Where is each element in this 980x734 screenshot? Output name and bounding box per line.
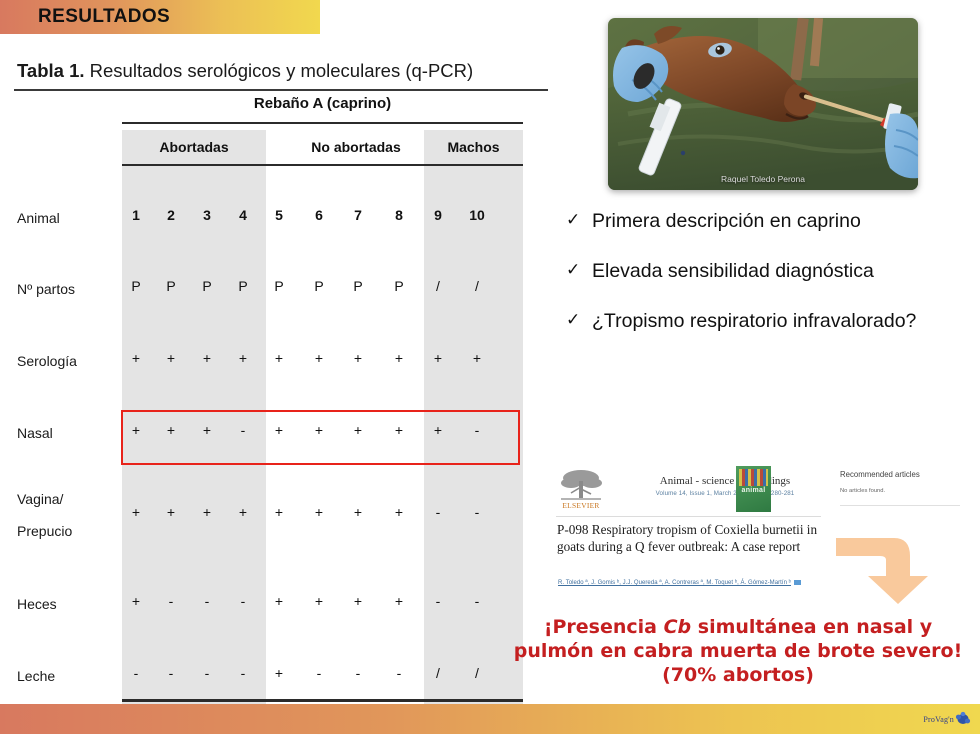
table-cell: +	[230, 350, 256, 366]
svg-text:ELSEVIER: ELSEVIER	[562, 501, 599, 510]
table-cell: +	[345, 593, 371, 609]
recommended-divider	[840, 505, 960, 506]
footer-bar: ProVag'n	[0, 704, 980, 734]
table-cell: /	[425, 278, 451, 294]
table-cell: +	[194, 350, 220, 366]
results-banner: RESULTADOS	[0, 0, 320, 34]
row-label-vagina: Vagina/	[17, 488, 63, 511]
conclusion-line-2: pulmón en cabra muerta de brote severo!	[498, 640, 978, 664]
conclusion-caption: ¡Presencia Cb simultánea en nasal y pulm…	[498, 616, 978, 688]
animal-header-cell: 9	[425, 207, 451, 223]
group-header-machos: Machos	[424, 139, 523, 155]
table-cell: P	[266, 278, 292, 294]
caption-part-a: ¡Presencia	[544, 616, 664, 638]
table-cell: -	[194, 593, 220, 609]
row-label-prepucio: Prepucio	[17, 520, 72, 543]
table-cell: -	[158, 665, 184, 681]
check-icon: ✓	[566, 209, 592, 231]
table-cell: -	[194, 665, 220, 681]
row-label-heces: Heces	[17, 593, 57, 616]
cover-title: animal	[736, 487, 771, 494]
table-cell: /	[464, 665, 490, 681]
table-cell: /	[464, 278, 490, 294]
herd-title: Rebaño A (caprino)	[122, 95, 523, 112]
table-cell: P	[123, 278, 149, 294]
animal-header-cell: 2	[158, 207, 184, 223]
table-rule-bottom	[122, 699, 523, 702]
animal-header-cell: 10	[464, 207, 490, 223]
row-label-nasal: Nasal	[17, 422, 53, 445]
envelope-icon[interactable]	[794, 580, 801, 585]
list-item-label: Elevada sensibilidad diagnóstica	[592, 259, 874, 284]
table-cell: +	[123, 593, 149, 609]
group-header-abortadas: Abortadas	[122, 139, 266, 155]
table-cell: +	[266, 504, 292, 520]
provagin-logo: ProVag'n	[923, 711, 972, 727]
table-cell: +	[306, 350, 332, 366]
list-item-label: ¿Tropismo respiratorio infravalorado?	[592, 309, 916, 334]
table-cell: +	[386, 504, 412, 520]
animal-header-cell: 6	[306, 207, 332, 223]
table-cell: -	[230, 593, 256, 609]
caption-divider	[14, 89, 548, 91]
animal-header-cell: 7	[345, 207, 371, 223]
animal-header-cell: 4	[230, 207, 256, 223]
cover-pattern	[739, 469, 768, 486]
table-cell: +	[306, 593, 332, 609]
table-cell: +	[386, 593, 412, 609]
table-cell: P	[345, 278, 371, 294]
table-cell: P	[386, 278, 412, 294]
group-header-no-abortadas: No abortadas	[266, 139, 446, 155]
animal-header-cell: 5	[266, 207, 292, 223]
table-cell: P	[306, 278, 332, 294]
table-cell: +	[266, 350, 292, 366]
animal-header-cell: 1	[123, 207, 149, 223]
table-caption-text: Resultados serológicos y moleculares (q-…	[85, 60, 474, 81]
row-label-serologia: Serología	[17, 350, 77, 373]
table-cell: +	[158, 350, 184, 366]
table-cell: -	[345, 665, 371, 681]
table-caption-label: Tabla 1.	[17, 60, 85, 81]
table-cell: +	[425, 350, 451, 366]
table-cell: -	[158, 593, 184, 609]
table-cell: +	[345, 350, 371, 366]
check-icon: ✓	[566, 309, 592, 331]
table-cell: +	[386, 350, 412, 366]
list-item: ✓ ¿Tropismo respiratorio infravalorado?	[566, 309, 966, 334]
photo-credit: Raquel Toledo Perona	[721, 174, 805, 184]
table-cell: -	[123, 665, 149, 681]
table-cell: /	[425, 665, 451, 681]
row-label-leche: Leche	[17, 665, 55, 688]
table-cell: P	[230, 278, 256, 294]
row-label-animal: Animal	[17, 207, 60, 230]
footer-logo-label: ProVag'n	[923, 715, 954, 724]
list-item: ✓ Elevada sensibilidad diagnóstica	[566, 259, 966, 284]
table-cell: -	[306, 665, 332, 681]
bacteria-icon	[954, 711, 972, 727]
table-cell: +	[306, 504, 332, 520]
table-cell: +	[230, 504, 256, 520]
curved-down-arrow-icon	[832, 532, 944, 606]
table-cell: -	[464, 593, 490, 609]
journal-cover-thumbnail: animal	[736, 466, 771, 512]
table-cell: -	[425, 504, 451, 520]
results-table: Rebaño A (caprino) Abortadas No abortada…	[0, 95, 560, 695]
list-item: ✓ Primera descripción en caprino	[566, 209, 966, 234]
table-cell: -	[464, 504, 490, 520]
journal-name: Animal - science proceedings	[626, 475, 824, 487]
recommended-empty: No articles found.	[840, 488, 980, 494]
row-label-partos: Nº partos	[17, 278, 75, 301]
table-cell: +	[266, 593, 292, 609]
journal-meta: Volume 14, Issue 1, March 2023, Pages 28…	[626, 490, 824, 497]
table-rule-top	[122, 122, 523, 124]
table-cell: +	[123, 350, 149, 366]
table-cell: -	[425, 593, 451, 609]
article-divider	[556, 516, 821, 517]
nasal-row-highlight	[121, 410, 520, 465]
authors-text[interactable]: R. Toledo ª, J. Gomis ᵇ, J.J. Quereda ª,…	[558, 580, 791, 586]
article-authors: R. Toledo ª, J. Gomis ᵇ, J.J. Quereda ª,…	[558, 580, 820, 586]
table-cell: P	[194, 278, 220, 294]
table-cell: P	[158, 278, 184, 294]
table-cell: +	[123, 504, 149, 520]
table-cell: -	[386, 665, 412, 681]
page-title: RESULTADOS	[38, 6, 170, 28]
recommended-panel: Recommended articles No articles found.	[836, 464, 980, 506]
caption-part-b: simultánea en nasal y	[691, 616, 932, 638]
table-cell: +	[345, 504, 371, 520]
photo-illustration	[608, 18, 918, 190]
animal-header-cell: 8	[386, 207, 412, 223]
animal-header-cell: 3	[194, 207, 220, 223]
check-icon: ✓	[566, 259, 592, 281]
list-item-label: Primera descripción en caprino	[592, 209, 861, 234]
goat-nasal-swab-photo: Raquel Toledo Perona	[608, 18, 918, 190]
conclusion-line-3: (70% abortos)	[498, 664, 978, 688]
table-cell: +	[158, 504, 184, 520]
table-rule-mid	[122, 164, 523, 166]
recommended-title: Recommended articles	[840, 470, 980, 479]
conclusion-line-1: ¡Presencia Cb simultánea en nasal y	[498, 616, 978, 640]
findings-list: ✓ Primera descripción en caprino ✓ Eleva…	[566, 209, 966, 359]
table-cell: -	[230, 665, 256, 681]
group-header-row: Abortadas No abortadas Machos	[122, 139, 523, 161]
elsevier-logo: ELSEVIER	[557, 467, 612, 511]
table-caption: Tabla 1. Resultados serológicos y molecu…	[17, 60, 547, 82]
table-cell: +	[464, 350, 490, 366]
article-title: P-098 Respiratory tropism of Coxiella bu…	[557, 522, 819, 556]
table-cell: +	[266, 665, 292, 681]
caption-italic-cb: Cb	[664, 616, 692, 638]
table-cell: +	[194, 504, 220, 520]
